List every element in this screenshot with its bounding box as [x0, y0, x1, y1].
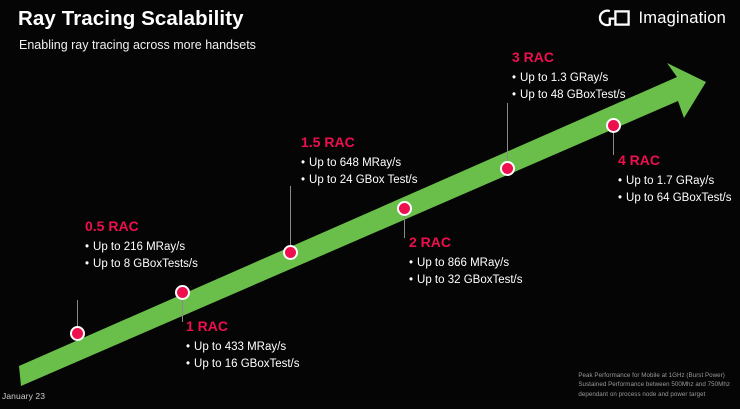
callout-heading: 0.5 RAC	[85, 218, 198, 234]
callout-bullet-list: Up to 1.3 GRay/s Up to 48 GBoxTest/s	[512, 70, 626, 103]
callout-heading: 1 RAC	[186, 318, 300, 334]
callout-bullet-list: Up to 866 MRay/s Up to 32 GBoxTest/s	[409, 255, 523, 288]
callout-heading: 1.5 RAC	[301, 134, 417, 150]
list-item: Up to 1.7 GRay/s	[618, 173, 732, 190]
callout-bullet-list: Up to 433 MRay/s Up to 16 GBoxTest/s	[186, 339, 300, 372]
list-item: Up to 648 MRay/s	[301, 155, 417, 172]
callout-2-rac: 2 RAC Up to 866 MRay/s Up to 32 GBoxTest…	[409, 234, 523, 288]
date-stamp: January 23	[2, 391, 45, 401]
callout-heading: 2 RAC	[409, 234, 523, 250]
list-item: Up to 32 GBoxTest/s	[409, 272, 523, 289]
list-item: Up to 64 GBoxTest/s	[618, 190, 732, 207]
list-item: Up to 16 GBoxTest/s	[186, 356, 300, 373]
footnote: Peak Performance for Mobile at 1GHz (Bur…	[578, 371, 730, 400]
callout-3-rac: 3 RAC Up to 1.3 GRay/s Up to 48 GBoxTest…	[512, 49, 626, 103]
stem-3-rac	[507, 103, 508, 168]
callout-bullet-list: Up to 1.7 GRay/s Up to 64 GBoxTest/s	[618, 173, 732, 206]
data-point-marker[interactable]	[70, 326, 85, 341]
list-item: Up to 1.3 GRay/s	[512, 70, 626, 87]
callout-heading: 4 RAC	[618, 152, 732, 168]
slide-canvas: Ray Tracing Scalability Enabling ray tra…	[0, 0, 740, 409]
callout-heading: 3 RAC	[512, 49, 626, 65]
callout-4-rac: 4 RAC Up to 1.7 GRay/s Up to 64 GBoxTest…	[618, 152, 732, 206]
callout-0.5-rac: 0.5 RAC Up to 216 MRay/s Up to 8 GBoxTes…	[85, 218, 198, 272]
data-point-marker[interactable]	[500, 161, 515, 176]
callout-bullet-list: Up to 648 MRay/s Up to 24 GBox Test/s	[301, 155, 417, 188]
list-item: Up to 216 MRay/s	[85, 239, 198, 256]
list-item: Up to 8 GBoxTests/s	[85, 256, 198, 273]
list-item: Up to 866 MRay/s	[409, 255, 523, 272]
stem-1.5-rac	[290, 186, 291, 252]
list-item: Up to 48 GBoxTest/s	[512, 87, 626, 104]
data-point-marker[interactable]	[175, 285, 190, 300]
callout-1.5-rac: 1.5 RAC Up to 648 MRay/s Up to 24 GBox T…	[301, 134, 417, 188]
data-point-marker[interactable]	[397, 201, 412, 216]
footnote-line-1: Peak Performance for Mobile at 1GHz (Bur…	[578, 371, 730, 381]
data-point-marker[interactable]	[283, 245, 298, 260]
footnote-line-2: Sustained Performance between 500Mhz and…	[578, 380, 730, 390]
list-item: Up to 24 GBox Test/s	[301, 172, 417, 189]
footnote-line-3: dependant on process node and power targ…	[578, 390, 730, 400]
callout-1-rac: 1 RAC Up to 433 MRay/s Up to 16 GBoxTest…	[186, 318, 300, 372]
callout-bullet-list: Up to 216 MRay/s Up to 8 GBoxTests/s	[85, 239, 198, 272]
list-item: Up to 433 MRay/s	[186, 339, 300, 356]
data-point-marker[interactable]	[606, 118, 621, 133]
